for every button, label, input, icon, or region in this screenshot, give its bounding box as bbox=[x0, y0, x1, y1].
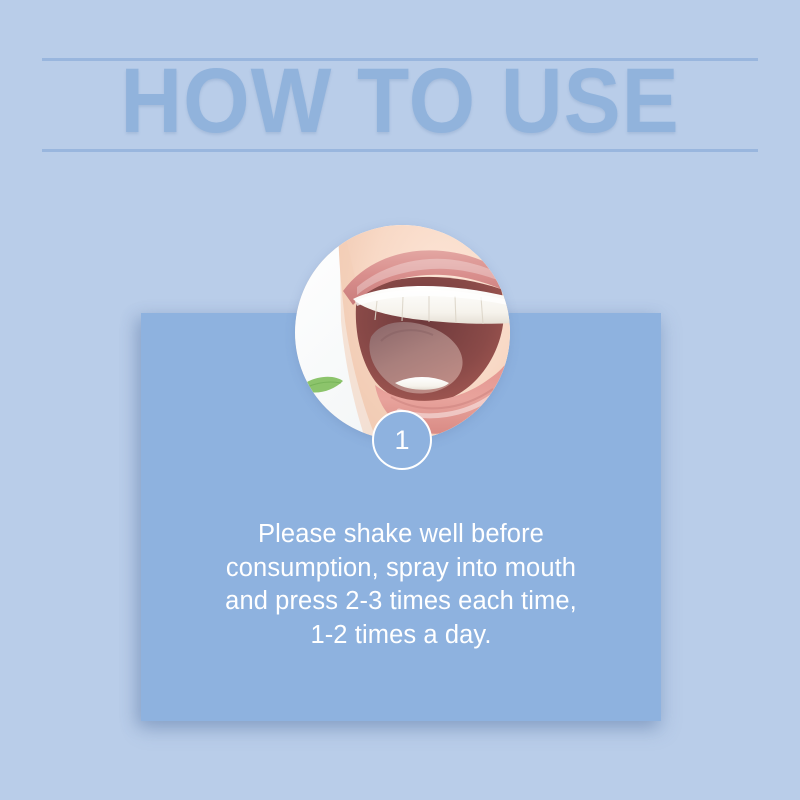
instruction-line-3: and press 2-3 times each time, bbox=[141, 585, 661, 619]
instruction-line-4: 1-2 times a day. bbox=[141, 619, 661, 653]
instruction-line-1: Please shake well before bbox=[141, 518, 661, 552]
page-title: HOW TO USE bbox=[28, 55, 772, 147]
open-mouth-photo-icon bbox=[295, 225, 510, 440]
step-number: 1 bbox=[394, 427, 409, 454]
instruction-line-2: consumption, spray into mouth bbox=[141, 552, 661, 586]
step-number-badge: 1 bbox=[372, 410, 432, 470]
instruction-text: Please shake well before consumption, sp… bbox=[141, 518, 661, 652]
header-divider-bottom bbox=[42, 149, 758, 152]
how-to-use-panel: HOW TO USE bbox=[0, 0, 800, 800]
